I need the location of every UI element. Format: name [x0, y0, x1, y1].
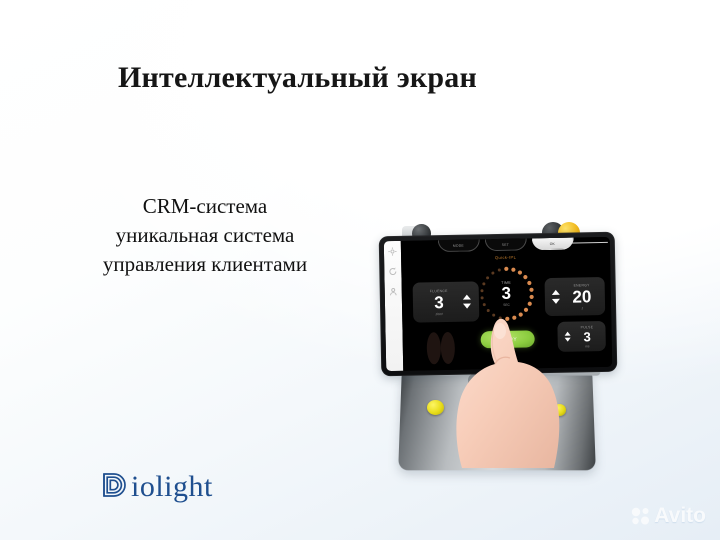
energy-value-group: ENERGY 20 J [563, 283, 602, 311]
energy-stepper[interactable] [549, 290, 563, 304]
refresh-icon[interactable] [388, 267, 397, 276]
fluence-unit: J/cm² [435, 312, 443, 316]
hand-pointing [450, 318, 590, 468]
screen-tab-bar: MODE SET OK [401, 237, 610, 254]
time-value: 3 [501, 285, 511, 303]
chevron-down-icon[interactable] [552, 299, 560, 304]
energy-card[interactable]: ENERGY 20 J [545, 277, 606, 316]
tab-set[interactable]: SET [484, 238, 526, 251]
subtitle-line-1: CRM-система [40, 192, 370, 221]
fluence-value: 3 [434, 294, 444, 311]
subtitle-line-3: управления клиентами [40, 250, 370, 279]
time-unit: SEC [503, 303, 510, 307]
diolight-d-icon [100, 470, 130, 500]
chevron-up-icon[interactable] [552, 290, 560, 295]
device-photo: MODE SET OK Quick-IPL FLUENCE [372, 222, 624, 472]
page-title: Интеллектуальный экран [118, 61, 477, 95]
subtitle-line-2: уникальная система [40, 221, 370, 250]
energy-unit: J [581, 306, 583, 310]
yellow-button-left[interactable] [427, 400, 444, 415]
screen-mode-label: Quick-IPL [401, 253, 610, 262]
settings-icon[interactable] [388, 247, 397, 256]
tab-mode[interactable]: MODE [437, 239, 479, 252]
chevron-down-icon[interactable] [463, 304, 471, 309]
energy-value: 20 [572, 288, 591, 305]
fluence-stepper[interactable] [460, 294, 474, 308]
tab-ok[interactable]: OK [531, 238, 573, 251]
time-dial[interactable]: TIME 3 SEC [475, 262, 538, 325]
time-dial-readout: TIME 3 SEC [475, 262, 538, 325]
profile-icon[interactable] [389, 287, 398, 296]
chevron-up-icon[interactable] [463, 295, 471, 300]
fluence-value-group: FLUENCE 3 J/cm² [418, 288, 461, 316]
avito-watermark: Avito [631, 505, 706, 526]
avito-logo-icon [631, 507, 651, 525]
brand-logo: iolight [100, 458, 213, 502]
fluence-card[interactable]: FLUENCE 3 J/cm² [413, 281, 480, 322]
avito-watermark-text: Avito [654, 505, 706, 526]
subtitle-block: CRM-система уникальная система управлени… [40, 192, 370, 279]
slide-canvas: Интеллектуальный экран CRM-система уника… [0, 0, 720, 540]
brand-logo-text: iolight [131, 472, 213, 502]
